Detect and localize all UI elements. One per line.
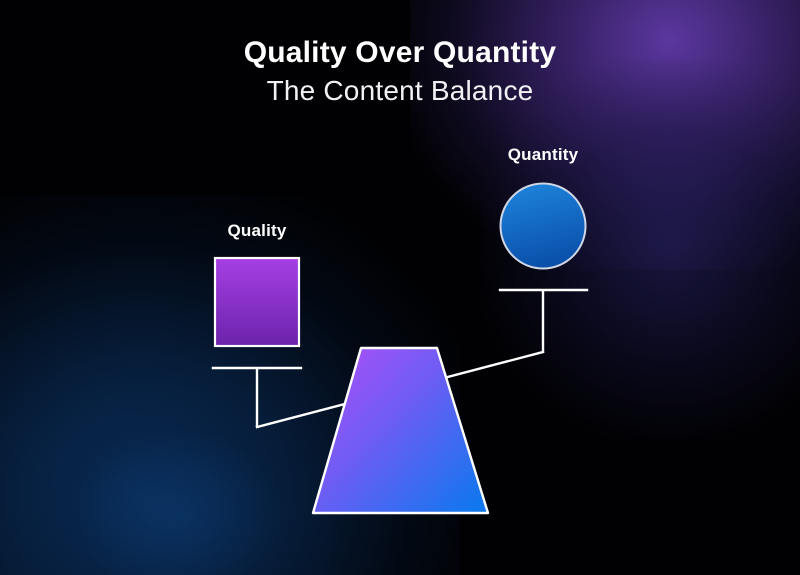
poster-canvas: Quality Over Quantity The Content Balanc…: [0, 0, 800, 575]
right-pan-label: Quantity: [508, 145, 579, 165]
left-pan-label: Quality: [227, 221, 286, 241]
circle-weight-icon: [501, 184, 586, 269]
right-pan-hanger: [500, 290, 587, 352]
balance-scale-illustration: [0, 0, 800, 575]
square-weight-icon: [215, 258, 299, 346]
